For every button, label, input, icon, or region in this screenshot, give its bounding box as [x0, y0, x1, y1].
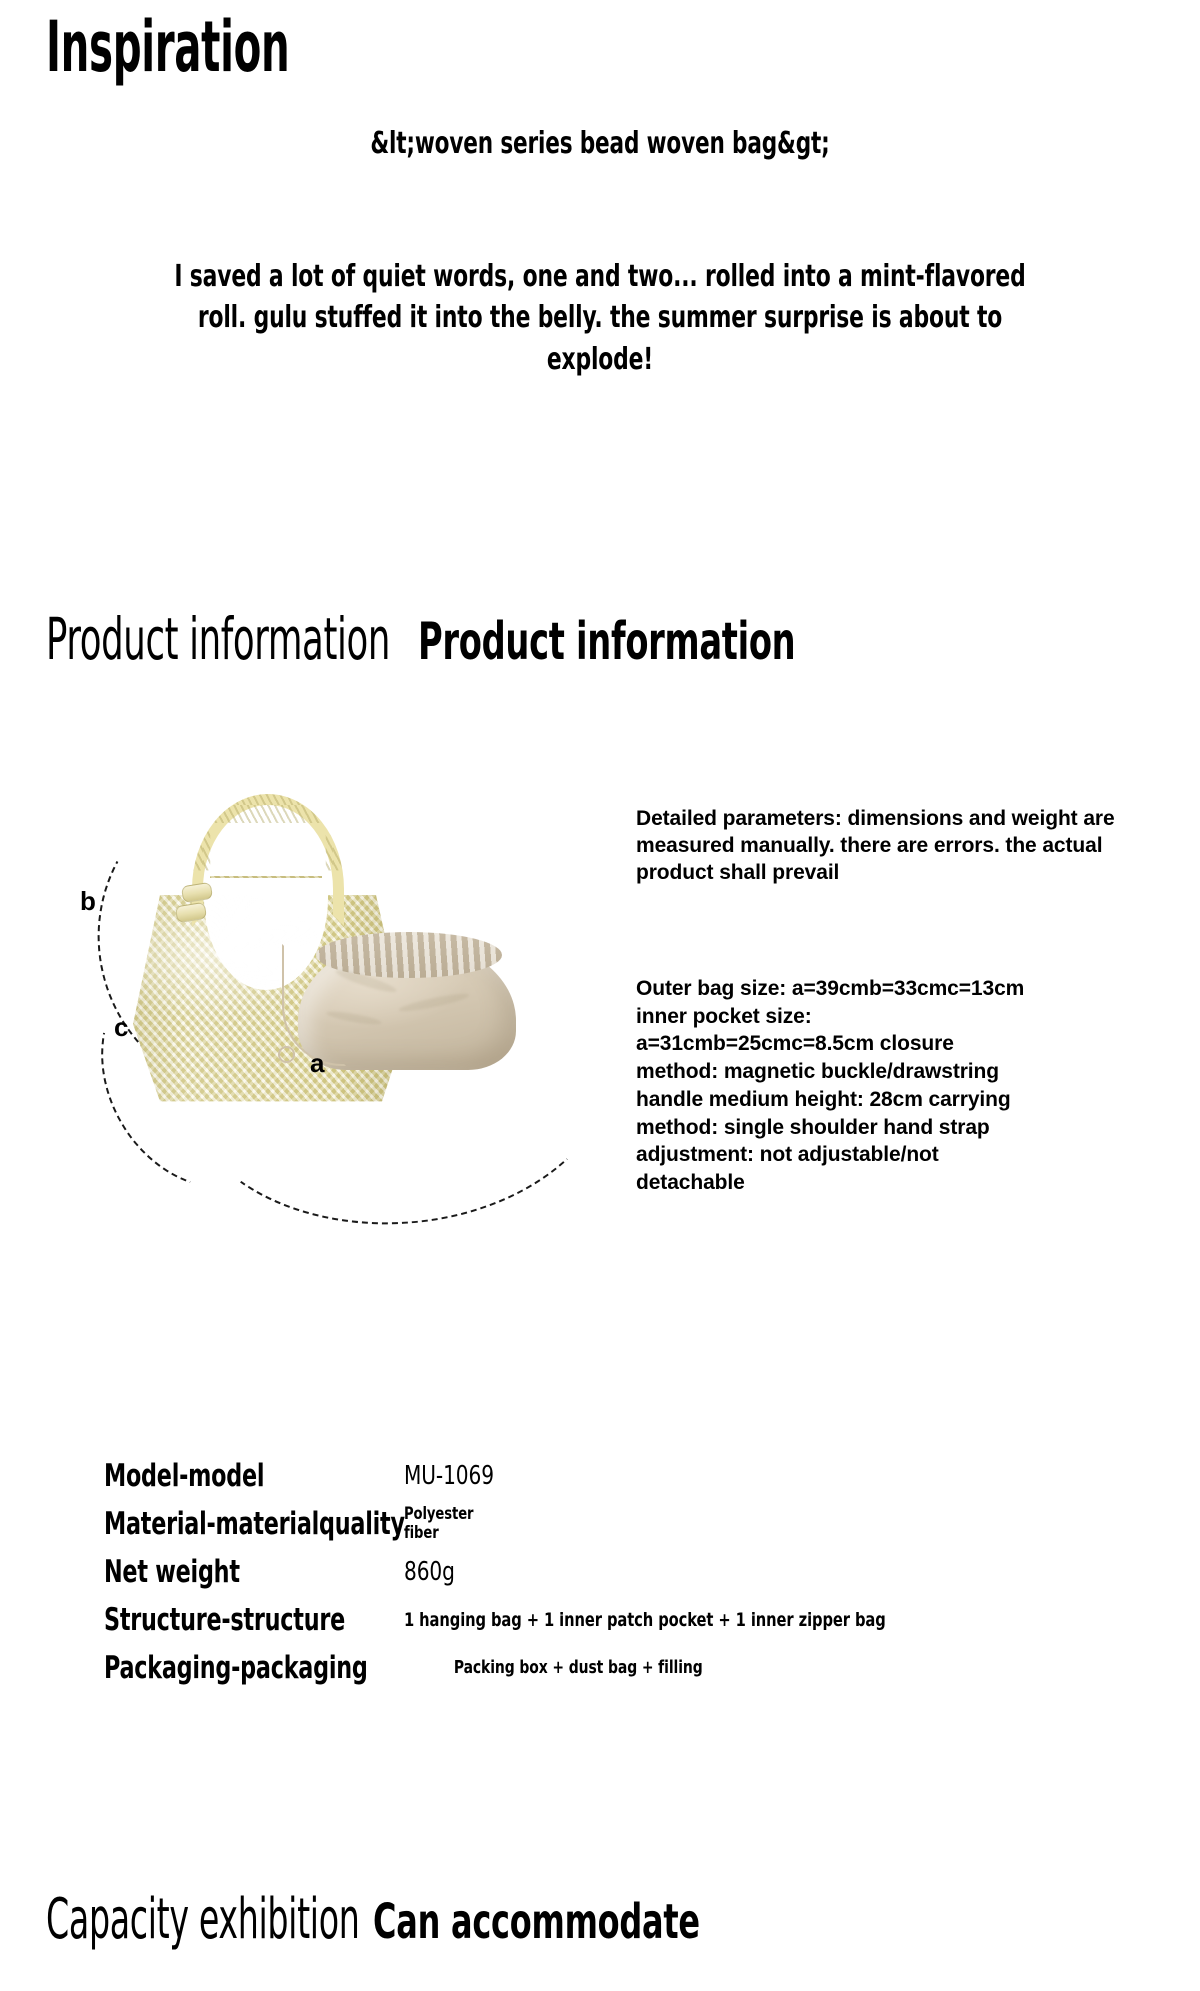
dimension-label-width: a — [310, 1050, 324, 1076]
spec-value: Polyester fiber — [404, 1505, 1006, 1542]
dimension-label-height: b — [80, 888, 96, 914]
drawstring-pouch-image — [298, 914, 516, 1070]
pouch-cord-knot — [278, 1046, 295, 1063]
capacity-heading: Capacity exhibition Can accommodate — [46, 1892, 815, 1948]
table-row: Model-model MU-1069 — [104, 1452, 1104, 1500]
spec-value: Packing box + dust bag + filling — [404, 1658, 1006, 1678]
spec-label: Packaging-packaging — [104, 1652, 344, 1685]
table-row: Structure-structure 1 hanging bag + 1 in… — [104, 1596, 1104, 1644]
spec-label: Material-materialquality — [104, 1508, 344, 1541]
product-detail-page: Inspiration &lt;woven series bead woven … — [0, 0, 1200, 1991]
spec-value: 1 hanging bag + 1 inner patch pocket + 1… — [404, 1610, 1006, 1631]
product-information-heading-bold: Product information — [418, 616, 795, 668]
measurement-disclaimer: Detailed parameters: dimensions and weig… — [636, 806, 1180, 887]
spec-value: MU-1069 — [404, 1462, 1006, 1491]
spec-label: Net weight — [104, 1556, 344, 1589]
product-illustration: b c a — [70, 800, 630, 1310]
product-information-heading-light: Product information — [46, 610, 390, 668]
table-row: Packaging-packaging Packing box + dust b… — [104, 1644, 1104, 1692]
spec-value: 860g — [404, 1558, 1006, 1587]
dimension-label-depth: c — [114, 1014, 128, 1040]
size-specification-text: Outer bag size: a=39cmb=33cmc=13cm inner… — [636, 975, 1196, 1197]
capacity-heading-bold: Can accommodate — [373, 1898, 700, 1946]
spec-label: Structure-structure — [104, 1604, 344, 1637]
table-row: Material-materialquality Polyester fiber — [104, 1500, 1104, 1548]
table-row: Net weight 860g — [104, 1548, 1104, 1596]
series-subtitle: &lt;woven series bead woven bag&gt; — [120, 126, 1080, 162]
page-title: Inspiration — [46, 12, 289, 82]
capacity-heading-light: Capacity exhibition — [46, 1892, 359, 1948]
product-information-heading: Product information Product information — [46, 610, 942, 668]
specification-table: Model-model MU-1069 Material-materialqua… — [104, 1452, 1104, 1692]
spec-label: Model-model — [104, 1460, 344, 1493]
inspiration-blurb: I saved a lot of quiet words, one and tw… — [155, 256, 1046, 380]
